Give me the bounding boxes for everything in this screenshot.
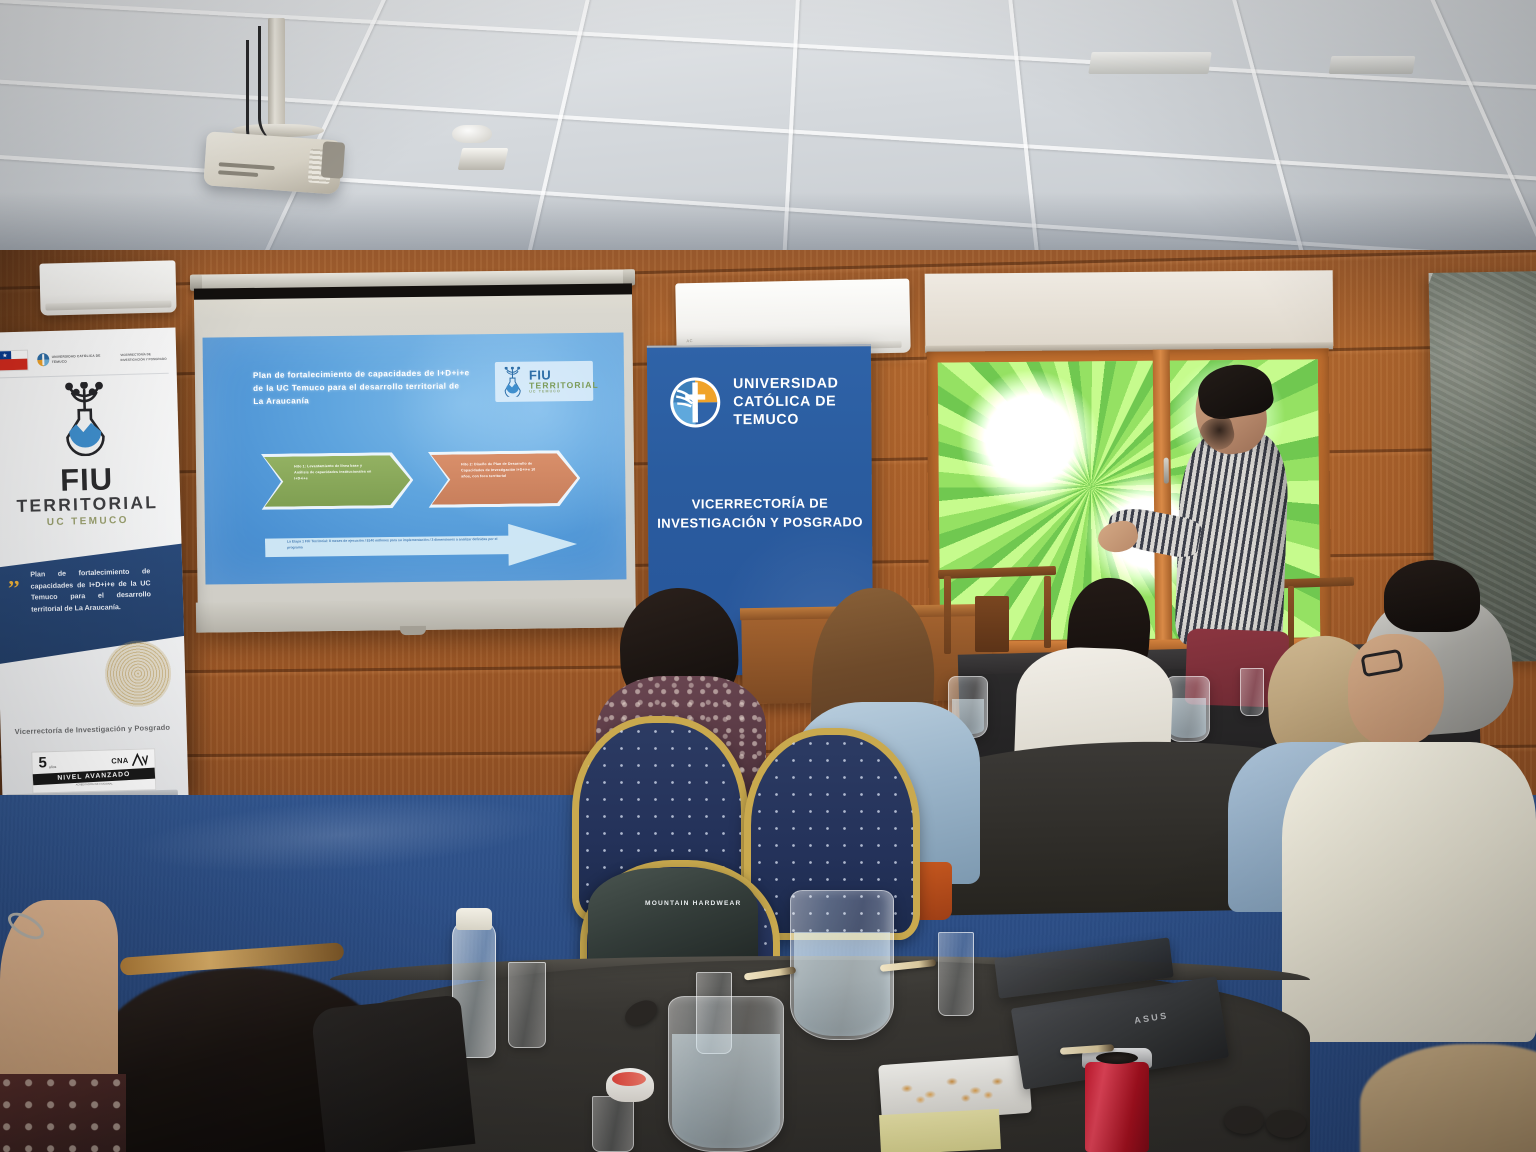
bowl-contents bbox=[612, 1072, 646, 1086]
snack-nuts bbox=[891, 1066, 1019, 1113]
fiu-rollup-banner: ★ UNIVERSIDAD CATÓLICA DE TEMUCO VICERRE… bbox=[0, 327, 188, 800]
water-pitcher[interactable] bbox=[790, 890, 894, 1040]
yellow-notepad[interactable] bbox=[879, 1109, 1001, 1152]
projected-slide: Plan de fortalecimiento de capacidades d… bbox=[203, 332, 627, 584]
uct-banner-office: VICERRECTORÍA DE INVESTIGACIÓN Y POSGRAD… bbox=[648, 494, 872, 533]
slide-fiu-logo: FIU TERRITORIAL UC TEMUCO bbox=[495, 361, 593, 402]
wooden-chair-leg bbox=[944, 576, 951, 654]
uct-office-line-2: INVESTIGACIÓN Y POSGRADO bbox=[648, 513, 872, 533]
slide-title: Plan de fortalecimiento de capacidades d… bbox=[253, 366, 471, 408]
water-bottle-cap[interactable] bbox=[456, 908, 492, 930]
smoke-detector-icon bbox=[452, 125, 492, 143]
uct-office-line-1: VICERRECTORÍA DE bbox=[648, 494, 872, 514]
wooden-chair-slat bbox=[975, 596, 1009, 652]
drinking-glass[interactable] bbox=[508, 962, 546, 1048]
uct-name-line-3: TEMUCO bbox=[733, 411, 839, 430]
rollup-fiu-brand: FIU TERRITORIAL UC TEMUCO bbox=[0, 379, 181, 529]
drinking-glass[interactable] bbox=[1240, 668, 1264, 716]
accreditation-badge: 5 años CNA NIVEL AVANZADO ACREDITACIÓN I… bbox=[31, 748, 156, 793]
laptop-brand-label: ASUS bbox=[1133, 1010, 1169, 1025]
fiu-flask-icon bbox=[500, 367, 525, 397]
slide-timeline-arrow: La Etapa 1 FIU Territorial: 8 meses de e… bbox=[265, 523, 577, 569]
uct-name-line-2: CATÓLICA DE bbox=[733, 393, 839, 412]
uct-banner-university-name: UNIVERSIDAD CATÓLICA DE TEMUCO bbox=[733, 374, 839, 429]
rollup-office-name: VICERRECTORÍA DE INVESTIGACIÓN Y POSGRAD… bbox=[120, 352, 168, 362]
roller-blind[interactable] bbox=[925, 270, 1334, 350]
accreditation-years-label: años bbox=[49, 766, 56, 770]
uct-name-line-1: UNIVERSIDAD bbox=[733, 374, 839, 393]
slide-step-2: Hito 2: Diseño de Plan de Desarrollo de … bbox=[431, 453, 578, 505]
cna-mark-icon bbox=[130, 752, 148, 766]
window-handle[interactable] bbox=[1164, 458, 1169, 484]
projection-screen-handle[interactable] bbox=[400, 626, 426, 635]
drinking-glass[interactable] bbox=[592, 1096, 634, 1152]
sunglasses[interactable] bbox=[1224, 1106, 1264, 1134]
fiu-flask-icon bbox=[54, 381, 116, 457]
foreground-chair-back[interactable] bbox=[311, 995, 476, 1152]
rollup-partner-logos: ★ UNIVERSIDAD CATÓLICA DE TEMUCO VICERRE… bbox=[0, 340, 169, 379]
sunglasses[interactable] bbox=[1266, 1110, 1306, 1138]
rollup-halftone-circle bbox=[104, 640, 172, 708]
quote-mark-icon: ,, bbox=[8, 568, 19, 586]
slide-timeline-text: La Etapa 1 FIU Territorial: 8 meses de e… bbox=[287, 536, 502, 551]
wooden-chair-leg bbox=[1044, 576, 1051, 648]
uct-logo-icon bbox=[669, 377, 721, 429]
chile-flag-icon: ★ bbox=[0, 350, 28, 372]
red-thermos[interactable] bbox=[1085, 1062, 1149, 1152]
thermos-opening bbox=[1096, 1052, 1138, 1064]
slide-step-2-text: Hito 2: Diseño de Plan de Desarrollo de … bbox=[461, 460, 545, 479]
slide-step-1: Hito 1: Levantamiento de línea base y An… bbox=[264, 455, 411, 507]
water-pitcher[interactable] bbox=[668, 996, 784, 1152]
rollup-uctemuco-text: UC TEMUCO bbox=[0, 514, 181, 530]
rollup-quote-text: Plan de fortalecimiento de capacidades d… bbox=[30, 566, 151, 616]
attendee-6-blouse bbox=[0, 1074, 126, 1152]
slide-logo-uctemuco-text: UC TEMUCO bbox=[529, 390, 599, 394]
ceiling-vent-panel bbox=[1329, 56, 1416, 74]
rollup-university-name: UNIVERSIDAD CATÓLICA DE TEMUCO bbox=[52, 353, 112, 363]
uct-small-logo: UNIVERSIDAD CATÓLICA DE TEMUCO bbox=[37, 351, 112, 366]
rollup-office-line: Vicerrectoría de Investigación y Posgrad… bbox=[15, 723, 171, 736]
accreditation-years: 5 bbox=[38, 755, 47, 770]
drinking-glass[interactable] bbox=[938, 932, 974, 1016]
rollup-territorial-text: TERRITORIAL bbox=[0, 492, 181, 516]
slide-step-1-text: Hito 1: Levantamiento de línea base y An… bbox=[294, 462, 378, 481]
water-pitcher[interactable] bbox=[1166, 676, 1210, 742]
conference-room-photo: AC Plan de fortalecimiento de capacidade… bbox=[0, 0, 1536, 1152]
backpack-brand-label: MOUNTAIN HARDWEAR bbox=[645, 900, 741, 908]
projector-lens bbox=[321, 141, 345, 178]
suspended-ceiling bbox=[0, 0, 1536, 262]
accreditation-agency: CNA bbox=[111, 755, 128, 764]
air-conditioner-unit bbox=[39, 260, 176, 315]
window-mullion bbox=[1153, 350, 1173, 650]
ceiling-light-panel bbox=[1088, 52, 1211, 74]
ceiling-vent bbox=[458, 148, 509, 170]
